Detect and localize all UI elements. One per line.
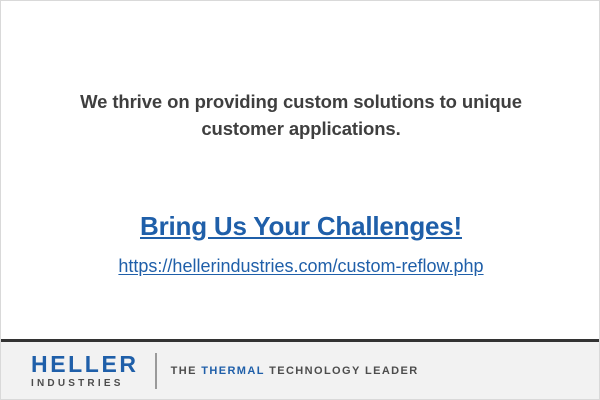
heller-logo: HELLER INDUSTRIES — [31, 353, 139, 389]
headline-text: We thrive on providing custom solutions … — [41, 89, 561, 143]
tagline-part-one: THE — [171, 365, 202, 377]
footer-content: HELLER INDUSTRIES THE THERMAL TECHNOLOGY… — [31, 350, 419, 392]
tagline-accent-word: THERMAL — [201, 365, 264, 377]
tagline-part-two: TECHNOLOGY LEADER — [265, 365, 419, 377]
footer-tagline: THE THERMAL TECHNOLOGY LEADER — [171, 365, 419, 377]
logo-secondary-text: INDUSTRIES — [31, 379, 139, 389]
footer-bar: HELLER INDUSTRIES THE THERMAL TECHNOLOGY… — [1, 339, 599, 399]
custom-reflow-link[interactable]: https://hellerindustries.com/custom-refl… — [41, 256, 561, 277]
logo-primary-text: HELLER — [31, 353, 139, 376]
call-to-action-heading: Bring Us Your Challenges! — [41, 211, 561, 242]
slide-canvas: We thrive on providing custom solutions … — [0, 0, 600, 400]
footer-divider — [155, 353, 157, 389]
